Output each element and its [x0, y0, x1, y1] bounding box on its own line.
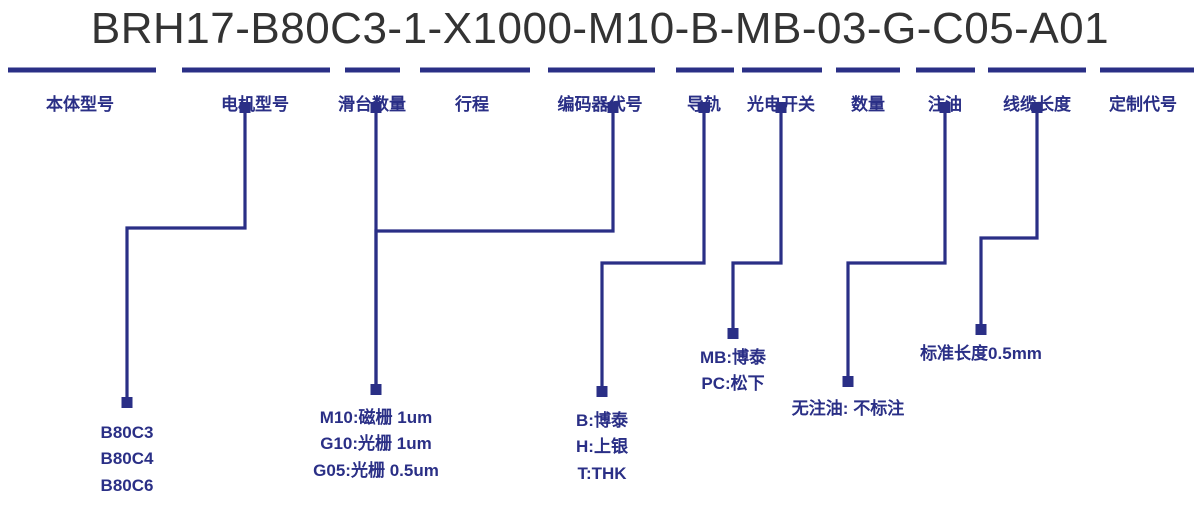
callout-photoelectric-switch: MB:博泰PC:松下: [700, 345, 766, 398]
option-body-model-2: B80C6: [101, 473, 154, 499]
field-label-cable-length: 线缆长度: [1003, 96, 1071, 113]
leader-line-encoder-code: [376, 110, 613, 390]
callout-body-model: B80C3B80C4B80C6: [101, 420, 154, 499]
option-motor-model-1: G10:光栅 1um: [313, 431, 439, 457]
leader-cap-encoder-code: [371, 384, 382, 395]
leader-cap-body-model: [122, 397, 133, 408]
option-guide-rail-2: T:THK: [576, 461, 628, 487]
option-motor-model-2: G05:光栅 0.5um: [313, 458, 439, 484]
option-body-model-0: B80C3: [101, 420, 154, 446]
field-label-custom-code: 定制代号: [1109, 96, 1177, 113]
option-motor-model-0: M10:磁栅 1um: [313, 405, 439, 431]
option-photoelectric-switch-0: MB:博泰: [700, 345, 766, 371]
leader-cap-cable-length: [976, 324, 987, 335]
leader-line-body-model: [127, 110, 245, 403]
leader-line-photoelectric-switch: [733, 110, 781, 334]
leader-cap-photoelectric-switch: [728, 328, 739, 339]
field-label-slide-count: 滑台数量: [338, 96, 406, 113]
leader-line-cable-length: [981, 110, 1037, 330]
leader-cap-guide-rail: [597, 386, 608, 397]
callout-motor-model: M10:磁栅 1umG10:光栅 1umG05:光栅 0.5um: [313, 405, 439, 484]
field-label-guide-rail: 导轨: [687, 96, 721, 113]
callout-oiling: 无注油: 不标注: [792, 396, 904, 422]
field-label-body-model: 本体型号: [46, 96, 114, 113]
field-label-photoelectric-switch: 光电开关: [747, 96, 815, 113]
option-guide-rail-0: B:博泰: [576, 408, 628, 434]
option-body-model-1: B80C4: [101, 446, 154, 472]
option-photoelectric-switch-1: PC:松下: [700, 371, 766, 397]
field-label-quantity: 数量: [851, 96, 885, 113]
option-cable-length-0: 标准长度0.5mm: [920, 341, 1042, 367]
leader-line-guide-rail: [602, 110, 704, 392]
option-guide-rail-1: H:上银: [576, 434, 628, 460]
field-label-stroke: 行程: [455, 96, 489, 113]
leader-cap-oiling: [843, 376, 854, 387]
option-oiling-0: 无注油: 不标注: [792, 396, 904, 422]
callout-guide-rail: B:博泰H:上银T:THK: [576, 408, 628, 487]
part-number-diagram: BRH17-B80C3-1-X1000-M10-B-MB-03-G-C05-A0…: [0, 0, 1200, 514]
field-label-oiling: 注油: [928, 96, 962, 113]
field-label-encoder-code: 编码器代号: [558, 96, 643, 113]
callout-cable-length: 标准长度0.5mm: [920, 341, 1042, 367]
field-label-motor-model: 电机型号: [221, 96, 289, 113]
